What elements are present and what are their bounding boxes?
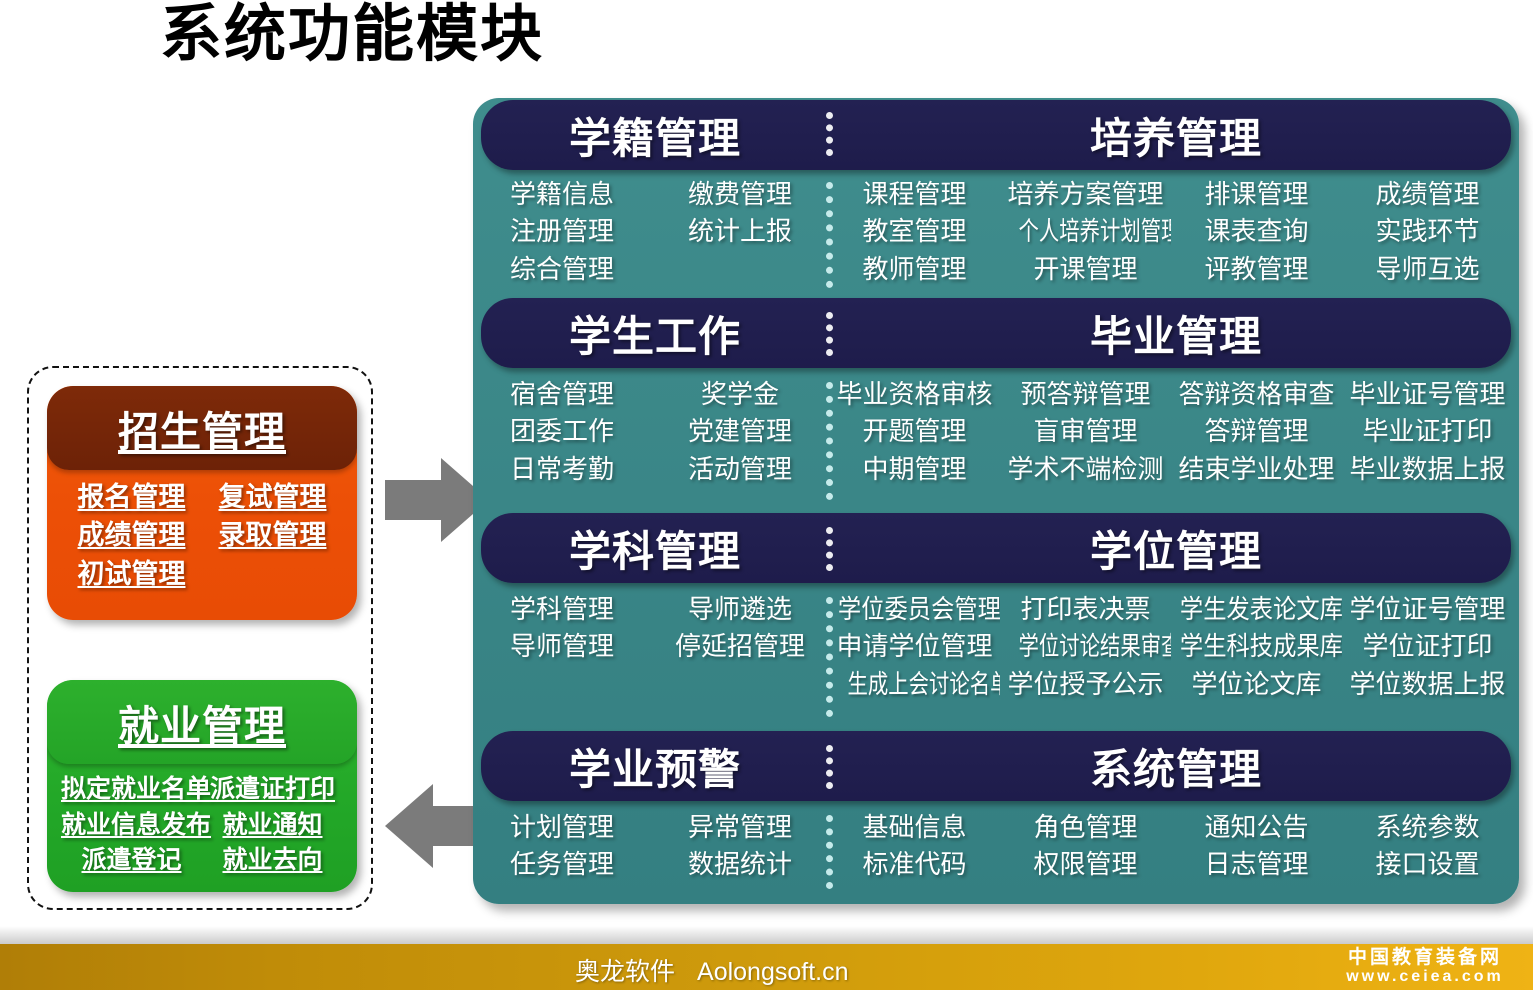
module-title-left: 学籍管理 bbox=[481, 105, 829, 166]
list-item[interactable]: 党建管理 bbox=[651, 413, 829, 450]
list-item[interactable]: 学籍信息 bbox=[473, 176, 651, 213]
list-item[interactable]: 打印表决票 bbox=[1000, 591, 1171, 628]
list-item[interactable]: 拟定就业名单 bbox=[61, 772, 202, 808]
list-item[interactable]: 通知公告 bbox=[1171, 809, 1342, 846]
module-left-items: 学籍信息 缴费管理 注册管理 统计上报 综合管理 bbox=[473, 170, 829, 298]
module-row-header: 学业预警 系统管理 bbox=[481, 731, 1511, 801]
module-left-items: 计划管理 异常管理 任务管理 数据统计 bbox=[473, 803, 829, 904]
list-item[interactable]: 缴费管理 bbox=[651, 176, 829, 213]
list-item[interactable]: 学生科技成果库 bbox=[1171, 628, 1342, 665]
list-item[interactable]: 综合管理 bbox=[473, 251, 651, 288]
list-item[interactable]: 申请学位管理 bbox=[829, 628, 1000, 665]
list-item[interactable]: 答辩管理 bbox=[1171, 413, 1342, 450]
footer-shadow bbox=[0, 926, 1533, 944]
header-dotted-divider bbox=[826, 745, 840, 789]
module-right-items: 学位委员会管理 打印表决票 学生发表论文库 学位证号管理 申请学位管理 学位讨论… bbox=[829, 585, 1519, 731]
header-dotted-divider bbox=[826, 312, 840, 356]
module-row-body: 计划管理 异常管理 任务管理 数据统计 基础信息 角色管理 通知公告 系统参数 … bbox=[473, 803, 1519, 904]
list-item[interactable]: 学位论文库 bbox=[1171, 666, 1342, 703]
list-item[interactable]: 个人培养计划管理 bbox=[1000, 213, 1171, 250]
module-left-items: 宿舍管理 奖学金 团委工作 党建管理 日常考勤 活动管理 bbox=[473, 370, 829, 513]
list-item[interactable]: 预答辩管理 bbox=[1000, 376, 1171, 413]
module-row: 学科管理 学位管理 学科管理 导师遴选 导师管理 停延招管理 学位委员会管理 打… bbox=[473, 513, 1519, 731]
list-item[interactable]: 宿舍管理 bbox=[473, 376, 651, 413]
list-item[interactable]: 学位数据上报 bbox=[1342, 666, 1513, 703]
module-row: 学业预警 系统管理 计划管理 异常管理 任务管理 数据统计 基础信息 角色管理 … bbox=[473, 731, 1519, 904]
list-item[interactable]: 注册管理 bbox=[473, 213, 651, 250]
list-item[interactable]: 复试管理 bbox=[202, 478, 343, 516]
admission-module-items: 报名管理 复试管理 成绩管理 录取管理 初试管理 bbox=[47, 470, 357, 605]
list-item[interactable]: 教师管理 bbox=[829, 251, 1000, 288]
admission-module-title: 招生管理 bbox=[118, 398, 286, 458]
list-item[interactable]: 实践环节 bbox=[1342, 213, 1513, 250]
list-item[interactable]: 学位讨论结果审查 bbox=[1000, 628, 1171, 665]
list-item[interactable]: 学位委员会管理 bbox=[829, 591, 1000, 628]
list-item[interactable]: 权限管理 bbox=[1000, 846, 1171, 883]
module-row-header: 学科管理 学位管理 bbox=[481, 513, 1511, 583]
list-item[interactable]: 就业去向 bbox=[202, 843, 343, 879]
list-item[interactable]: 生成上会讨论名单 bbox=[829, 666, 1000, 703]
list-item[interactable]: 任务管理 bbox=[473, 846, 651, 883]
list-item[interactable]: 就业通知 bbox=[202, 808, 343, 844]
module-right-items: 基础信息 角色管理 通知公告 系统参数 标准代码 权限管理 日志管理 接口设置 bbox=[829, 803, 1519, 904]
module-title-right: 毕业管理 bbox=[841, 303, 1511, 364]
module-title-right: 系统管理 bbox=[841, 736, 1511, 797]
employment-module-items: 拟定就业名单 派遣证打印 就业信息发布 就业通知 派遣登记 就业去向 bbox=[47, 764, 357, 891]
list-item[interactable]: 停延招管理 bbox=[651, 628, 829, 665]
page-title: 系统功能模块 bbox=[160, 2, 544, 67]
list-item[interactable]: 团委工作 bbox=[473, 413, 651, 450]
list-item[interactable]: 学位证打印 bbox=[1342, 628, 1513, 665]
employment-module-header: 就业管理 bbox=[47, 680, 357, 764]
list-item[interactable]: 计划管理 bbox=[473, 809, 651, 846]
module-row: 学生工作 毕业管理 宿舍管理 奖学金 团委工作 党建管理 日常考勤 活动管理 毕… bbox=[473, 298, 1519, 513]
left-module-group: 招生管理 报名管理 复试管理 成绩管理 录取管理 初试管理 就业管理 拟定就业名… bbox=[27, 366, 373, 910]
module-row-body: 学籍信息 缴费管理 注册管理 统计上报 综合管理 课程管理 培养方案管理 排课管… bbox=[473, 170, 1519, 298]
list-item[interactable]: 角色管理 bbox=[1000, 809, 1171, 846]
module-row-header: 学籍管理 培养管理 bbox=[481, 100, 1511, 170]
list-item[interactable]: 报名管理 bbox=[61, 478, 202, 516]
list-item[interactable]: 日常考勤 bbox=[473, 451, 651, 488]
list-item[interactable]: 评教管理 bbox=[1171, 251, 1342, 288]
list-item[interactable]: 毕业资格审核 bbox=[829, 376, 1000, 413]
list-item[interactable]: 毕业证打印 bbox=[1342, 413, 1513, 450]
list-item[interactable]: 系统参数 bbox=[1342, 809, 1513, 846]
list-item[interactable]: 盲审管理 bbox=[1000, 413, 1171, 450]
list-item[interactable]: 派遣登记 bbox=[61, 843, 202, 879]
header-dotted-divider bbox=[826, 112, 840, 156]
list-item[interactable]: 毕业数据上报 bbox=[1342, 451, 1513, 488]
list-item[interactable]: 开题管理 bbox=[829, 413, 1000, 450]
list-item[interactable]: 就业信息发布 bbox=[61, 808, 202, 844]
module-title-left: 学科管理 bbox=[481, 518, 829, 579]
list-item[interactable]: 日志管理 bbox=[1171, 846, 1342, 883]
watermark-cn: 中国教育装备网 bbox=[1348, 948, 1502, 967]
list-item[interactable]: 学术不端检测 bbox=[1000, 451, 1171, 488]
list-item[interactable]: 录取管理 bbox=[202, 516, 343, 554]
list-item[interactable]: 答辩资格审查 bbox=[1171, 376, 1342, 413]
list-item[interactable]: 基础信息 bbox=[829, 809, 1000, 846]
footer-text: 奥龙软件Aolongsoft.cn bbox=[575, 952, 849, 988]
module-title-right: 学位管理 bbox=[841, 518, 1511, 579]
list-item[interactable]: 培养方案管理 bbox=[1000, 176, 1171, 213]
header-dotted-divider bbox=[826, 527, 840, 571]
list-item[interactable]: 数据统计 bbox=[651, 846, 829, 883]
employment-module-title: 就业管理 bbox=[118, 692, 286, 752]
list-item[interactable]: 接口设置 bbox=[1342, 846, 1513, 883]
module-row: 学籍管理 培养管理 学籍信息 缴费管理 注册管理 统计上报 综合管理 课程管理 … bbox=[473, 98, 1519, 298]
module-title-right: 培养管理 bbox=[841, 105, 1511, 166]
list-item[interactable]: 异常管理 bbox=[651, 809, 829, 846]
list-item[interactable]: 结束学业处理 bbox=[1171, 451, 1342, 488]
list-item[interactable]: 课表查询 bbox=[1171, 213, 1342, 250]
list-item[interactable]: 活动管理 bbox=[651, 451, 829, 488]
watermark-url: www.ceiea.com bbox=[1346, 967, 1504, 986]
list-item[interactable]: 导师遴选 bbox=[651, 591, 829, 628]
list-item[interactable]: 中期管理 bbox=[829, 451, 1000, 488]
list-item[interactable]: 课程管理 bbox=[829, 176, 1000, 213]
admission-module-box[interactable]: 招生管理 报名管理 复试管理 成绩管理 录取管理 初试管理 bbox=[47, 386, 357, 620]
list-item[interactable]: 毕业证号管理 bbox=[1342, 376, 1513, 413]
list-item[interactable]: 初试管理 bbox=[61, 555, 202, 593]
list-item[interactable]: 统计上报 bbox=[651, 213, 829, 250]
watermark: 中国教育装备网 www.ceiea.com bbox=[1335, 944, 1515, 990]
admission-module-header: 招生管理 bbox=[47, 386, 357, 470]
list-item[interactable]: 成绩管理 bbox=[61, 516, 202, 554]
module-right-items: 课程管理 培养方案管理 排课管理 成绩管理 教室管理 个人培养计划管理 课表查询… bbox=[829, 170, 1519, 298]
list-item[interactable]: 派遣证打印 bbox=[202, 772, 343, 808]
list-item[interactable]: 奖学金 bbox=[651, 376, 829, 413]
list-item[interactable]: 标准代码 bbox=[829, 846, 1000, 883]
module-title-left: 学业预警 bbox=[481, 736, 829, 797]
list-item[interactable]: 开课管理 bbox=[1000, 251, 1171, 288]
list-item[interactable]: 学生发表论文库 bbox=[1171, 591, 1342, 628]
module-row-body: 学科管理 导师遴选 导师管理 停延招管理 学位委员会管理 打印表决票 学生发表论… bbox=[473, 585, 1519, 731]
list-item[interactable]: 排课管理 bbox=[1171, 176, 1342, 213]
list-item[interactable]: 导师管理 bbox=[473, 628, 651, 665]
module-row-body: 宿舍管理 奖学金 团委工作 党建管理 日常考勤 活动管理 毕业资格审核 预答辩管… bbox=[473, 370, 1519, 513]
module-row-header: 学生工作 毕业管理 bbox=[481, 298, 1511, 368]
list-item[interactable]: 导师互选 bbox=[1342, 251, 1513, 288]
footer-site: Aolongsoft.cn bbox=[697, 958, 849, 986]
modules-panel: 学籍管理 培养管理 学籍信息 缴费管理 注册管理 统计上报 综合管理 课程管理 … bbox=[473, 98, 1519, 904]
employment-module-box[interactable]: 就业管理 拟定就业名单 派遣证打印 就业信息发布 就业通知 派遣登记 就业去向 bbox=[47, 680, 357, 892]
list-item[interactable]: 学位证号管理 bbox=[1342, 591, 1513, 628]
module-left-items: 学科管理 导师遴选 导师管理 停延招管理 bbox=[473, 585, 829, 731]
module-title-left: 学生工作 bbox=[481, 303, 829, 364]
list-item[interactable]: 学位授予公示 bbox=[1000, 666, 1171, 703]
list-item[interactable]: 学科管理 bbox=[473, 591, 651, 628]
list-item[interactable]: 教室管理 bbox=[829, 213, 1000, 250]
footer-company: 奥龙软件 bbox=[575, 958, 675, 986]
list-item[interactable]: 成绩管理 bbox=[1342, 176, 1513, 213]
module-right-items: 毕业资格审核 预答辩管理 答辩资格审查 毕业证号管理 开题管理 盲审管理 答辩管… bbox=[829, 370, 1519, 513]
